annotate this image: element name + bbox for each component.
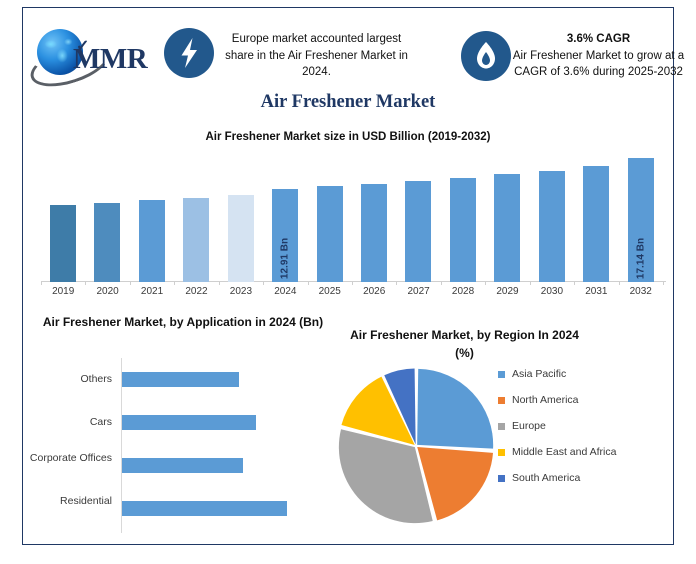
legend-swatch-icon [498, 397, 505, 404]
application-chart-title: Air Freshener Market, by Application in … [28, 314, 338, 331]
bar-x-label: 2031 [574, 286, 618, 297]
axis-tick [130, 281, 131, 285]
bar-2029 [494, 174, 520, 282]
bar-column [352, 145, 396, 282]
bar-column [530, 145, 574, 282]
axis-tick [308, 281, 309, 285]
legend-label: Middle East and Africa [512, 446, 616, 458]
legend-label: South America [512, 472, 580, 484]
cagr-headline: 3.6% CAGR [511, 31, 686, 48]
legend-item: South America [498, 472, 670, 484]
axis-tick [174, 281, 175, 285]
page-title: Air Freshener Market [24, 92, 672, 113]
axis-tick [352, 281, 353, 285]
bar-2022 [183, 198, 209, 282]
hbar-row: Others [24, 358, 344, 401]
bar-column: 17.14 Bn [619, 145, 663, 282]
axis-tick [85, 281, 86, 285]
bar-column [41, 145, 85, 282]
bar-value-label: 12.91 Bn [280, 238, 291, 279]
bar-2028 [450, 178, 476, 282]
axis-tick [441, 281, 442, 285]
axis-tick [396, 281, 397, 285]
bar-2027 [405, 181, 431, 282]
axis-tick [574, 281, 575, 285]
hbar-others [122, 372, 239, 387]
bar-column [219, 145, 263, 282]
hbar-residential [122, 501, 287, 516]
axis-tick [41, 281, 42, 285]
legend-item: Middle East and Africa [498, 446, 670, 458]
bar-chart-plot: 12.91 Bn17.14 Bn [41, 145, 663, 282]
header-right-note: 3.6% CAGR Air Freshener Market to grow a… [511, 31, 686, 81]
lightning-bolt-icon [164, 28, 214, 78]
bar-x-label: 2019 [41, 286, 85, 297]
bar-x-label: 2025 [308, 286, 352, 297]
bar-2024: 12.91 Bn [272, 189, 298, 282]
bar-chart-title: Air Freshener Market size in USD Billion… [24, 131, 672, 143]
hbar-row: Cars [24, 401, 344, 444]
bar-2019 [50, 205, 76, 282]
legend-label: North America [512, 394, 579, 406]
axis-tick [219, 281, 220, 285]
bar-value-label: 17.14 Bn [635, 238, 646, 279]
hbar-category-label: Cars [12, 416, 112, 429]
region-pie-chart: Air Freshener Market, by Region In 2024 … [338, 320, 672, 545]
pie-slice-asia-pacific [417, 369, 493, 449]
legend-label: Europe [512, 420, 546, 432]
legend-swatch-icon [498, 371, 505, 378]
hbar-row: Corporate Offices [24, 444, 344, 487]
bar-x-label: 2028 [441, 286, 485, 297]
flame-drop-icon [461, 31, 511, 81]
bar-x-label: 2024 [263, 286, 307, 297]
bar-x-label: 2027 [396, 286, 440, 297]
market-size-bar-chart: Air Freshener Market size in USD Billion… [24, 125, 672, 305]
bar-x-label: 2029 [485, 286, 529, 297]
bar-2025 [317, 186, 343, 282]
axis-tick [619, 281, 620, 285]
bar-2020 [94, 203, 120, 282]
hbar-category-label: Residential [12, 495, 112, 508]
bar-x-label: 2022 [174, 286, 218, 297]
infographic-page: ✓ MMR Europe market accounted largest sh… [0, 0, 696, 564]
bar-column [130, 145, 174, 282]
mmr-logo: ✓ MMR [29, 23, 174, 85]
bar-column [485, 145, 529, 282]
bar-x-label: 2026 [352, 286, 396, 297]
bar-2021 [139, 200, 165, 282]
hbar-corporate-offices [122, 458, 243, 473]
axis-tick [485, 281, 486, 285]
legend-label: Asia Pacific [512, 368, 566, 380]
header-band: ✓ MMR Europe market accounted largest sh… [24, 9, 672, 105]
bar-column [574, 145, 618, 282]
bar-2023 [228, 195, 254, 282]
legend-swatch-icon [498, 423, 505, 430]
application-bar-chart: Air Freshener Market, by Application in … [24, 310, 344, 540]
axis-tick [263, 281, 264, 285]
bar-2031 [583, 166, 609, 282]
legend-item: North America [498, 394, 670, 406]
application-chart-plot: OthersCarsCorporate OfficesResidential [24, 358, 344, 533]
hbar-row: Residential [24, 487, 344, 530]
hbar-cars [122, 415, 256, 430]
bar-x-label: 2032 [619, 286, 663, 297]
pie-chart-legend: Asia PacificNorth AmericaEuropeMiddle Ea… [498, 368, 670, 498]
brand-name: MMR [73, 43, 147, 76]
bar-column [308, 145, 352, 282]
pie-chart-graphic [338, 358, 498, 533]
bar-column [174, 145, 218, 282]
hbar-category-label: Others [12, 373, 112, 386]
bar-column [85, 145, 129, 282]
bar-x-label: 2021 [130, 286, 174, 297]
bar-2032: 17.14 Bn [628, 158, 654, 282]
bar-2030 [539, 171, 565, 282]
bar-x-label: 2030 [530, 286, 574, 297]
hbar-category-label: Corporate Offices [12, 452, 112, 465]
bar-x-label: 2020 [85, 286, 129, 297]
axis-tick [530, 281, 531, 285]
header-left-note: Europe market accounted largest share in… [224, 31, 409, 81]
pie-chart-title: Air Freshener Market, by Region In 2024 … [342, 326, 587, 362]
bar-2026 [361, 184, 387, 282]
axis-tick [663, 281, 664, 285]
bar-column [396, 145, 440, 282]
legend-item: Europe [498, 420, 670, 432]
legend-item: Asia Pacific [498, 368, 670, 380]
bar-x-label: 2023 [219, 286, 263, 297]
cagr-note: Air Freshener Market to grow at a CAGR o… [511, 48, 686, 81]
bar-column: 12.91 Bn [263, 145, 307, 282]
legend-swatch-icon [498, 475, 505, 482]
bar-column [441, 145, 485, 282]
legend-swatch-icon [498, 449, 505, 456]
